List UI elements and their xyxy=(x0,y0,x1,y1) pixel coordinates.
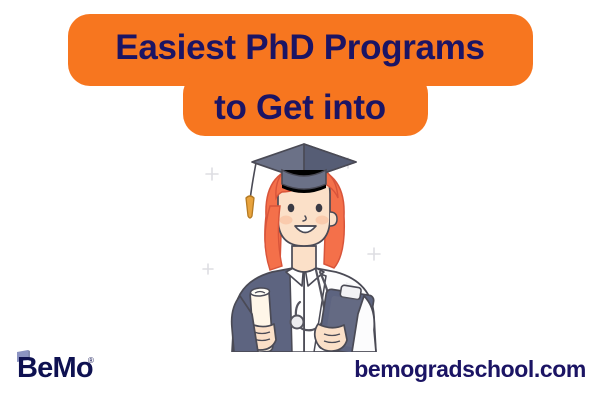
registered-trademark-symbol: ® xyxy=(88,356,94,365)
stethoscope-chestpiece xyxy=(291,316,304,329)
bemo-logo-wordmark[interactable]: BeMo xyxy=(17,352,93,385)
eye-left xyxy=(288,204,295,212)
tassel-cord xyxy=(250,163,256,200)
tassel xyxy=(246,196,254,218)
page-title-line-1: Easiest PhD Programs xyxy=(0,28,600,68)
graduate-doctor-illustration xyxy=(196,136,412,352)
hand-right xyxy=(315,324,347,351)
cheek-left xyxy=(280,216,293,225)
eye-right xyxy=(316,204,323,212)
slide-canvas: Easiest PhD Programs to Get into xyxy=(0,0,600,400)
page-title-line-2: to Get into xyxy=(0,88,600,128)
website-url[interactable]: bemogradschool.com xyxy=(354,356,586,383)
cheek-right xyxy=(316,216,329,225)
